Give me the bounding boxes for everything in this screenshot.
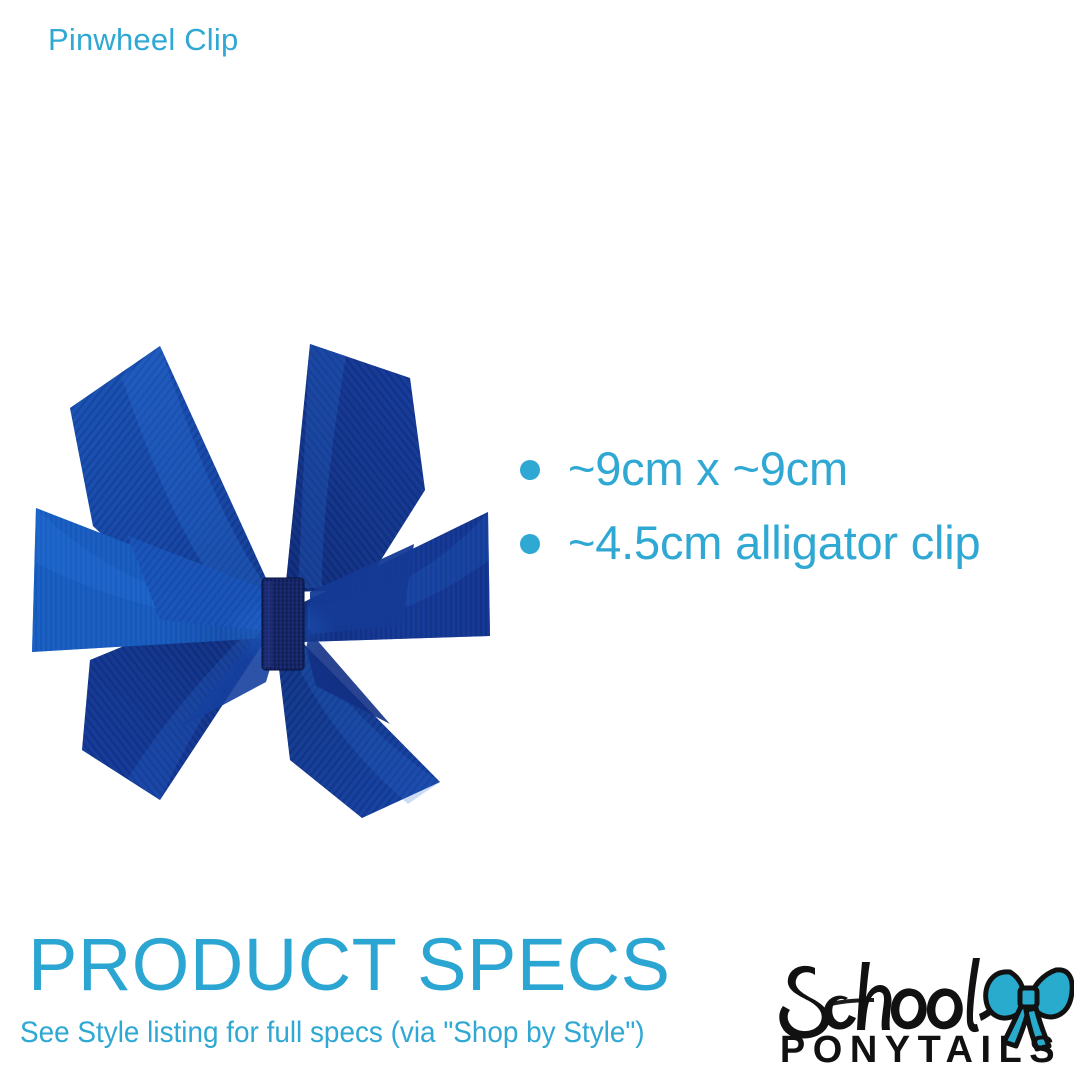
product-spec-list: ~9cm x ~9cm ~4.5cm alligator clip — [508, 432, 1048, 581]
logo-script-word — [779, 958, 1010, 1038]
page-title: Pinwheel Clip — [48, 22, 238, 58]
logo-block-word: PONYTAILS — [776, 1029, 1066, 1072]
list-item: ~9cm x ~9cm — [508, 432, 1048, 506]
bow-center-knot — [262, 578, 304, 670]
footer-subtitle: See Style listing for full specs (via "S… — [20, 1016, 645, 1050]
list-item: ~4.5cm alligator clip — [508, 506, 1048, 580]
footer-banner: PRODUCT SPECS See Style listing for full… — [0, 920, 1080, 1080]
product-image — [10, 330, 510, 830]
footer-heading: PRODUCT SPECS — [28, 928, 670, 1002]
pinwheel-bow-illustration — [10, 330, 510, 830]
